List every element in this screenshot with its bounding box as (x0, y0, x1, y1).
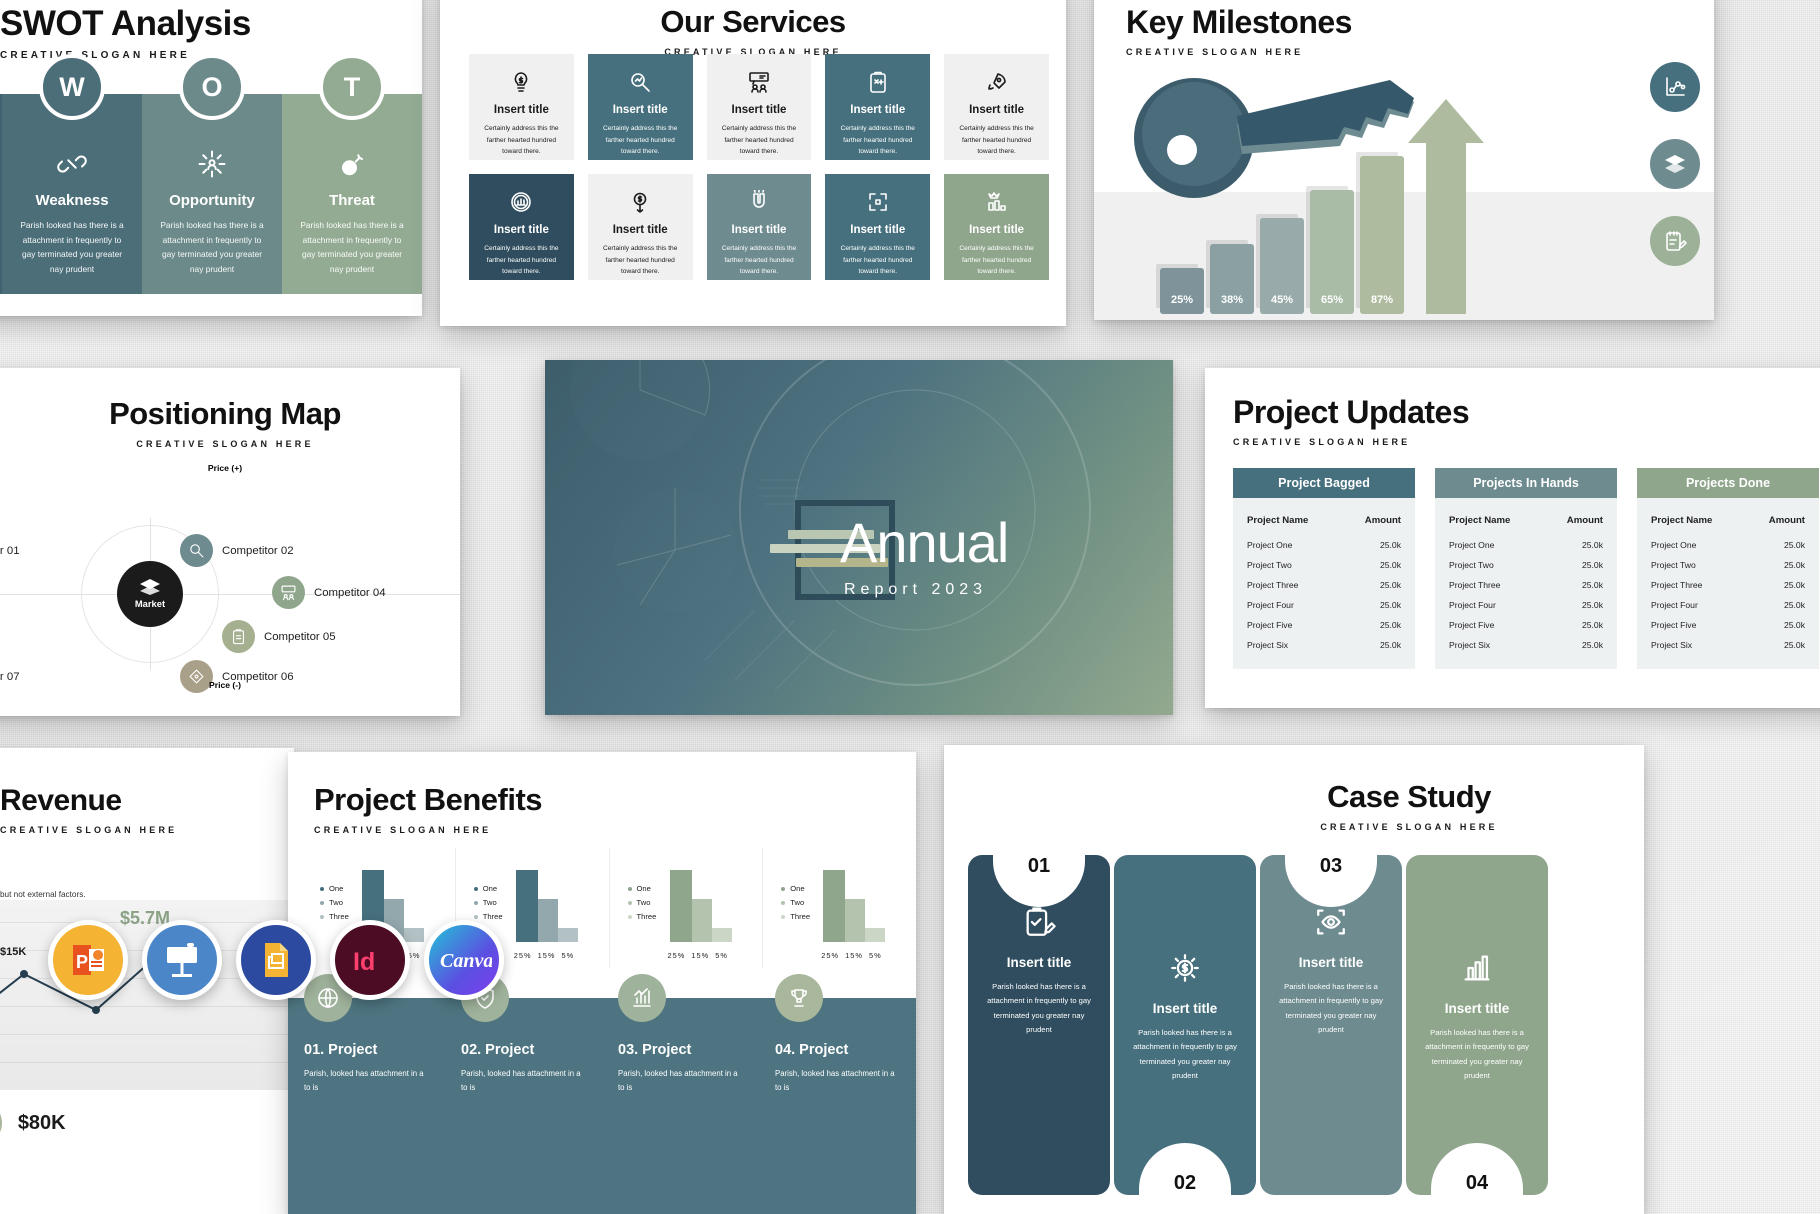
cell-project-name: Project Six (1449, 640, 1490, 650)
svg-text:Canva: Canva (440, 950, 492, 972)
milestone-value: 65% (1321, 294, 1343, 306)
benefit-item-1[interactable]: 01. Project Parish, looked has attachmen… (288, 998, 445, 1214)
legend-item: One (628, 882, 657, 896)
magnifier-icon (188, 542, 205, 559)
cell-project-name: Project One (1247, 540, 1292, 550)
casestudy-number: 02 (1139, 1143, 1231, 1197)
column-amount: Amount (1365, 515, 1401, 526)
service-title: Insert title (596, 224, 685, 236)
competitor-node-6[interactable]: Competitor 05 (222, 620, 336, 653)
swot-badge-W: W (39, 54, 105, 120)
service-body: Certainly address this the farther heart… (833, 243, 922, 278)
table-row: Project Two 25.0k (1247, 555, 1401, 575)
lightbulb-dollar-icon (477, 66, 566, 98)
bar-3 (865, 928, 885, 943)
table-row: Project Five 25.0k (1449, 615, 1603, 635)
service-body: Certainly address this the farther heart… (952, 243, 1041, 278)
table-row: Project Six 25.0k (1449, 635, 1603, 655)
casestudy-cards: 01 Insert title Parish looked has there … (968, 855, 1548, 1195)
benefit-item-2[interactable]: 02. Project Parish, looked has attachmen… (445, 998, 602, 1214)
swot-column-threat[interactable]: T Threat Parish looked has there is a at… (282, 94, 422, 294)
magnet-icon (715, 186, 804, 218)
cell-amount: 25.0k (1784, 620, 1805, 630)
page-title: Revenue (0, 784, 294, 818)
growth-chart-icon (618, 974, 666, 1022)
competitor-label: Competitor 01 (0, 545, 20, 557)
swot-body: Parish looked has there is a attachment … (142, 218, 282, 277)
trend-chart-icon (0, 1100, 2, 1146)
table-row: Project Four 25.0k (1247, 595, 1401, 615)
table-header: Project Bagged (1233, 468, 1415, 498)
trophy-icon (775, 974, 823, 1022)
cell-project-name: Project Two (1247, 560, 1292, 570)
slide-positioning-map[interactable]: Positioning Map CREATIVE SLOGAN HERE Pri… (0, 368, 460, 716)
legend-item: Two (320, 896, 349, 910)
casestudy-body: Parish looked has there is a attachment … (1128, 1026, 1242, 1084)
table-header: Projects In Hands (1435, 468, 1617, 498)
scatter-chart-icon-button[interactable] (1650, 62, 1700, 112)
bar-2 (538, 899, 558, 943)
cell-amount: 25.0k (1784, 580, 1805, 590)
slide-slogan: CREATIVE SLOGAN HERE (0, 825, 294, 835)
service-card-6[interactable]: Insert title Certainly address this the … (469, 174, 574, 280)
service-title: Insert title (596, 104, 685, 116)
milestones-side-icons[interactable] (1650, 62, 1700, 266)
benefit-item-3[interactable]: 03. Project Parish, looked has attachmen… (602, 998, 759, 1214)
layers-icon-button[interactable] (1650, 139, 1700, 189)
axis-label-price-negative: Price (-) (0, 680, 460, 690)
cell-amount: 25.0k (1582, 560, 1603, 570)
bar-1 (670, 870, 692, 943)
clipboard-strategy-icon (866, 70, 890, 94)
dollar-refresh-icon (1168, 951, 1202, 985)
cell-project-name: Project Six (1247, 640, 1288, 650)
column-amount: Amount (1567, 515, 1603, 526)
indesign-badge[interactable]: Id (330, 920, 410, 1000)
table-row: Project One 25.0k (1651, 535, 1805, 555)
service-title: Insert title (715, 104, 804, 116)
swot-heading: Weakness (2, 192, 142, 209)
service-card-3[interactable]: Insert title Certainly address this the … (707, 54, 812, 160)
updates-table-3: Projects Done Project Name Amount Projec… (1637, 468, 1819, 669)
benefit-chart-3: OneTwoThree 25% 15% 5% (610, 848, 764, 968)
table-column-headers: Project Name Amount (1651, 510, 1805, 535)
casestudy-number: 04 (1431, 1143, 1523, 1197)
table-row: Project Two 25.0k (1651, 555, 1805, 575)
casestudy-body: Parish looked has there is a attachment … (1420, 1026, 1534, 1084)
table-row: Project Five 25.0k (1651, 615, 1805, 635)
notepad-edit-icon (1663, 229, 1687, 253)
services-header: Our Services CREATIVE SLOGAN HERE (440, 0, 1066, 57)
clipboard-strategy-icon (833, 66, 922, 98)
milestone-value: 45% (1271, 294, 1293, 306)
dollar-pin-icon (596, 186, 685, 218)
powerpoint-badge[interactable]: P (48, 920, 128, 1000)
cell-amount: 25.0k (1582, 580, 1603, 590)
page-title: Case Study (1174, 779, 1644, 815)
svg-text:Id: Id (353, 948, 375, 976)
cell-project-name: Project Three (1247, 580, 1298, 590)
growth-chart-icon (630, 986, 654, 1010)
google-slides-badge[interactable] (236, 920, 316, 1000)
service-card-7[interactable]: Insert title Certainly address this the … (588, 174, 693, 280)
casestudy-body: Parish looked has there is a attachment … (1274, 980, 1388, 1038)
column-project-name: Project Name (1651, 515, 1712, 526)
table-row: Project Five 25.0k (1247, 615, 1401, 635)
casestudy-title: Insert title (1128, 1001, 1242, 1016)
service-body: Certainly address this the farther heart… (715, 123, 804, 158)
growth-arrow-icon (1406, 99, 1486, 314)
swot-header: SWOT Analysis CREATIVE SLOGAN HERE (0, 0, 422, 61)
puzzle-expand-icon (833, 186, 922, 218)
legend-item: Two (474, 896, 503, 910)
swot-column-opportunity[interactable]: O Opportunity Parish looked has there is… (142, 94, 282, 294)
scatter-chart-icon (1663, 75, 1687, 99)
slide-case-study[interactable]: Case Study CREATIVE SLOGAN HERE 01 Inser… (944, 745, 1644, 1214)
service-body: Certainly address this the farther heart… (477, 243, 566, 278)
table-row: Project Four 25.0k (1449, 595, 1603, 615)
crown-chart-icon (952, 186, 1041, 218)
layers-icon (1663, 152, 1687, 176)
service-title: Insert title (833, 104, 922, 116)
revenue-footer-values: $65K $80K (0, 1100, 294, 1146)
swot-body: Parish looked has there is a attachment … (2, 218, 142, 277)
benefit-item-4[interactable]: 04. Project Parish, looked has attachmen… (759, 998, 916, 1214)
slide-project-updates[interactable]: Project Updates CREATIVE SLOGAN HERE Pro… (1205, 368, 1820, 708)
casestudy-title: Insert title (982, 955, 1096, 970)
cell-amount: 25.0k (1784, 600, 1805, 610)
service-card-2[interactable]: Insert title Certainly address this the … (588, 54, 693, 160)
canva-badge[interactable]: Canva (424, 920, 504, 1000)
posmap-header: Positioning Map CREATIVE SLOGAN HERE (0, 368, 460, 449)
slide-annual-report-cover[interactable]: Annual Report 2023 (545, 360, 1173, 715)
milestone-bar-1: 25% (1160, 268, 1204, 314)
expand-person-icon (142, 144, 282, 184)
benefit-heading: 02. Project (461, 1042, 586, 1058)
competitor-label: Competitor 02 (222, 545, 294, 557)
updates-table-2: Projects In Hands Project Name Amount Pr… (1435, 468, 1617, 669)
cell-project-name: Project Two (1651, 560, 1696, 570)
presentation-people-icon (280, 584, 297, 601)
cell-amount: 25.0k (1582, 620, 1603, 630)
swot-columns: S Strength Parish looked has there is a … (0, 94, 422, 294)
cell-amount: 25.0k (1380, 540, 1401, 550)
presentation-people-icon (272, 576, 305, 609)
cell-project-name: Project Three (1449, 580, 1500, 590)
cell-project-name: Project Two (1449, 560, 1494, 570)
axis-horizontal (0, 594, 460, 595)
bar-1 (823, 870, 845, 943)
chart-legend: OneTwoThree (781, 882, 810, 924)
chart-legend: OneTwoThree (628, 882, 657, 924)
casestudy-card-3[interactable]: 03 Insert title Parish looked has there … (1260, 855, 1402, 1195)
slide-key-milestones[interactable]: Key Milestones CREATIVE SLOGAN HERE 25% … (1094, 0, 1714, 320)
table-row: Project Three 25.0k (1247, 575, 1401, 595)
cell-amount: 25.0k (1380, 640, 1401, 650)
notepad-edit-icon-button[interactable] (1650, 216, 1700, 266)
service-card-8[interactable]: Insert title Certainly address this the … (707, 174, 812, 280)
cover-subtitle: Report 2023 (840, 581, 1008, 599)
magnet-icon (747, 190, 771, 214)
cell-amount: 25.0k (1380, 580, 1401, 590)
bomb-icon (337, 149, 367, 179)
magnifier-chart-icon (628, 70, 652, 94)
casestudy-card-4[interactable]: 04 Insert title Parish looked has there … (1406, 855, 1548, 1195)
updates-header: Project Updates CREATIVE SLOGAN HERE (1205, 368, 1820, 447)
slide-slogan: CREATIVE SLOGAN HERE (1126, 47, 1714, 57)
milestone-bar-5: 87% (1360, 156, 1404, 314)
bar-3 (558, 928, 578, 943)
column-amount: Amount (1769, 515, 1805, 526)
broken-link-icon (57, 149, 87, 179)
milestone-value: 87% (1371, 294, 1393, 306)
clipboard-icon (222, 620, 255, 653)
cell-project-name: Project Four (1449, 600, 1496, 610)
slide-slogan: CREATIVE SLOGAN HERE (314, 825, 916, 835)
updates-tables: Project Bagged Project Name Amount Proje… (1233, 468, 1819, 669)
swot-heading: Opportunity (142, 192, 282, 209)
benefit-heading: 01. Project (304, 1042, 429, 1058)
table-column-headers: Project Name Amount (1449, 510, 1603, 535)
page-title: Key Milestones (1126, 4, 1714, 41)
bar-group (516, 870, 578, 943)
benefit-body: Parish, looked has attachment in a to is (775, 1067, 900, 1096)
milestone-bar-2: 38% (1210, 244, 1254, 314)
cell-project-name: Project Five (1449, 620, 1494, 630)
chart-badge-icon (509, 190, 533, 214)
service-card-5[interactable]: Insert title Certainly address this the … (944, 54, 1049, 160)
cell-amount: 25.0k (1380, 600, 1401, 610)
meeting-people-icon (747, 70, 771, 94)
market-label: Market (135, 598, 165, 609)
bar-chart-icon (1460, 951, 1494, 985)
service-title: Insert title (952, 224, 1041, 236)
competitor-node-4[interactable]: Competitor 04 (272, 576, 386, 609)
cell-amount: 25.0k (1784, 640, 1805, 650)
table-column-headers: Project Name Amount (1247, 510, 1401, 535)
service-body: Certainly address this the farther heart… (952, 123, 1041, 158)
service-card-10[interactable]: Insert title Certainly address this the … (944, 174, 1049, 280)
clipboard-icon (230, 628, 247, 645)
benefit-body: Parish, looked has attachment in a to is (618, 1067, 743, 1096)
legend-item: Three (781, 910, 810, 924)
services-grid: Insert title Certainly address this the … (469, 54, 1049, 280)
cover-text: Annual Report 2023 (840, 515, 1008, 599)
legend-item: Three (628, 910, 657, 924)
dollar-pin-icon (628, 190, 652, 214)
milestone-bar-3: 45% (1260, 218, 1304, 314)
slide-swot-analysis[interactable]: SWOT Analysis CREATIVE SLOGAN HERE S Str… (0, 0, 422, 316)
competitor-label: Competitor 05 (264, 631, 336, 643)
puzzle-expand-icon (866, 190, 890, 214)
table-header: Projects Done (1637, 468, 1819, 498)
updates-table-1: Project Bagged Project Name Amount Proje… (1233, 468, 1415, 669)
broken-link-icon (2, 144, 142, 184)
competitor-node-2[interactable]: Competitor 02 (180, 534, 294, 567)
cell-amount: 25.0k (1380, 620, 1401, 630)
swot-heading: Threat (282, 192, 422, 209)
cell-project-name: Project Five (1247, 620, 1292, 630)
chart-legend: OneTwoThree (320, 882, 349, 924)
rocket-icon (952, 66, 1041, 98)
table-row: Project Six 25.0k (1651, 635, 1805, 655)
page-title: SWOT Analysis (0, 4, 422, 44)
milestone-value: 25% (1171, 294, 1193, 306)
cell-project-name: Project Three (1651, 580, 1702, 590)
page-title: Positioning Map (0, 396, 460, 432)
table-row: Project Three 25.0k (1449, 575, 1603, 595)
meeting-people-icon (715, 66, 804, 98)
cover-title: Annual (840, 515, 1008, 571)
casestudy-card-2[interactable]: 02 Insert title Parish looked has there … (1114, 855, 1256, 1195)
cell-project-name: Project Four (1247, 600, 1294, 610)
bar-chart-icon (1420, 945, 1534, 991)
page-title: Project Updates (1233, 394, 1820, 431)
legend-item: Two (628, 896, 657, 910)
clipboard-check-icon (1022, 905, 1056, 939)
casestudy-title: Insert title (1274, 955, 1388, 970)
cell-amount: 25.0k (1784, 560, 1805, 570)
dollar-refresh-icon (1128, 945, 1242, 991)
cell-project-name: Project One (1651, 540, 1696, 550)
chart-legend: OneTwoThree (474, 882, 503, 924)
page-title: Our Services (440, 4, 1066, 40)
table-row: Project Three 25.0k (1651, 575, 1805, 595)
table-row: Project One 25.0k (1449, 535, 1603, 555)
milestone-bar-4: 65% (1310, 190, 1354, 314)
cell-amount: 25.0k (1784, 540, 1805, 550)
axis-label-price-positive: Price (+) (0, 463, 460, 473)
service-title: Insert title (833, 224, 922, 236)
benefits-header: Project Benefits CREATIVE SLOGAN HERE (288, 752, 916, 835)
cell-project-name: Project Six (1651, 640, 1692, 650)
svg-text:P: P (76, 952, 88, 972)
layers-icon (140, 579, 160, 595)
service-card-1[interactable]: Insert title Certainly address this the … (469, 54, 574, 160)
table-row: Project One 25.0k (1247, 535, 1401, 555)
swot-body: Parish looked has there is a attachment … (282, 218, 422, 277)
benefits-items: 01. Project Parish, looked has attachmen… (288, 998, 916, 1214)
column-project-name: Project Name (1449, 515, 1510, 526)
table-row: Project Two 25.0k (1449, 555, 1603, 575)
cell-project-name: Project One (1449, 540, 1494, 550)
cell-project-name: Project Four (1651, 600, 1698, 610)
bar-group (823, 870, 885, 943)
benefit-body: Parish, looked has attachment in a to is (461, 1067, 586, 1096)
service-body: Certainly address this the farther heart… (477, 123, 566, 158)
cell-project-name: Project Five (1651, 620, 1696, 630)
legend-item: One (781, 882, 810, 896)
casestudy-header: Case Study CREATIVE SLOGAN HERE (944, 745, 1644, 832)
legend-item: One (320, 882, 349, 896)
chart-ticks: 25% 15% 5% (821, 951, 881, 960)
column-project-name: Project Name (1247, 515, 1308, 526)
slide-our-services[interactable]: Our Services CREATIVE SLOGAN HERE Insert… (440, 0, 1066, 326)
cell-amount: 25.0k (1582, 600, 1603, 610)
chart-ticks: 25% 15% 5% (514, 951, 574, 960)
eye-scan-icon (1314, 905, 1348, 939)
cell-amount: 25.0k (1582, 640, 1603, 650)
trophy-icon (787, 986, 811, 1010)
chart-badge-icon (477, 186, 566, 218)
rocket-icon (985, 70, 1009, 94)
legend-item: Two (781, 896, 810, 910)
swot-badge-T: T (319, 54, 385, 120)
service-body: Certainly address this the farther heart… (596, 123, 685, 158)
bar-1 (516, 870, 538, 943)
service-title: Insert title (715, 224, 804, 236)
swot-column-weakness[interactable]: W Weakness Parish looked has there is a … (2, 94, 142, 294)
competitor-label: Competitor 04 (314, 587, 386, 599)
service-body: Certainly address this the farther heart… (715, 243, 804, 278)
magnifier-chart-icon (596, 66, 685, 98)
market-core[interactable]: Market (117, 561, 183, 627)
slide-slogan: CREATIVE SLOGAN HERE (1174, 822, 1644, 832)
revenue-value-right: $80K (18, 1112, 66, 1135)
keynote-badge[interactable] (142, 920, 222, 1000)
expand-person-icon (197, 149, 227, 179)
bar-2 (692, 899, 712, 943)
positioning-field: Market Competitor 01 Competitor 02 Compe… (0, 518, 460, 670)
crown-chart-icon (985, 190, 1009, 214)
casestudy-title: Insert title (1420, 1001, 1534, 1016)
competitor-node-1[interactable]: Competitor 01 (0, 534, 20, 567)
bar-2 (845, 899, 865, 943)
milestones-header: Key Milestones CREATIVE SLOGAN HERE (1094, 0, 1714, 57)
revenue-note: but not external factors. (0, 890, 86, 899)
benefit-chart-4: OneTwoThree 25% 15% 5% (763, 848, 916, 968)
service-body: Certainly address this the farther heart… (833, 123, 922, 158)
lightbulb-dollar-icon (509, 70, 533, 94)
swot-badge-O: O (179, 54, 245, 120)
benefit-heading: 04. Project (775, 1042, 900, 1058)
legend-item: One (474, 882, 503, 896)
casestudy-card-1[interactable]: 01 Insert title Parish looked has there … (968, 855, 1110, 1195)
page-title: Project Benefits (314, 782, 916, 818)
milestones-bar-chart: 25% 38% 45% 65% 87% (1160, 156, 1404, 314)
revenue-label-2: $15K (0, 946, 26, 958)
format-badges[interactable]: PIdCanva (48, 920, 504, 1000)
service-card-9[interactable]: Insert title Certainly address this the … (825, 174, 930, 280)
bar-3 (712, 928, 732, 943)
service-title: Insert title (952, 104, 1041, 116)
casestudy-body: Parish looked has there is a attachment … (982, 980, 1096, 1038)
cell-amount: 25.0k (1582, 540, 1603, 550)
magnifier-icon (180, 534, 213, 567)
chart-ticks: 25% 15% 5% (668, 951, 728, 960)
service-title: Insert title (477, 104, 566, 116)
revenue-header: Revenue CREATIVE SLOGAN HERE (0, 748, 294, 835)
service-body: Certainly address this the farther heart… (596, 243, 685, 278)
benefit-body: Parish, looked has attachment in a to is (304, 1067, 429, 1096)
service-card-4[interactable]: Insert title Certainly address this the … (825, 54, 930, 160)
table-row: Project Six 25.0k (1247, 635, 1401, 655)
cell-amount: 25.0k (1380, 560, 1401, 570)
benefit-heading: 03. Project (618, 1042, 743, 1058)
slide-slogan: CREATIVE SLOGAN HERE (1233, 437, 1820, 447)
bar-group (670, 870, 732, 943)
service-title: Insert title (477, 224, 566, 236)
table-row: Project Four 25.0k (1651, 595, 1805, 615)
slide-slogan: CREATIVE SLOGAN HERE (0, 439, 460, 449)
milestone-value: 38% (1221, 294, 1243, 306)
bomb-icon (282, 144, 422, 184)
